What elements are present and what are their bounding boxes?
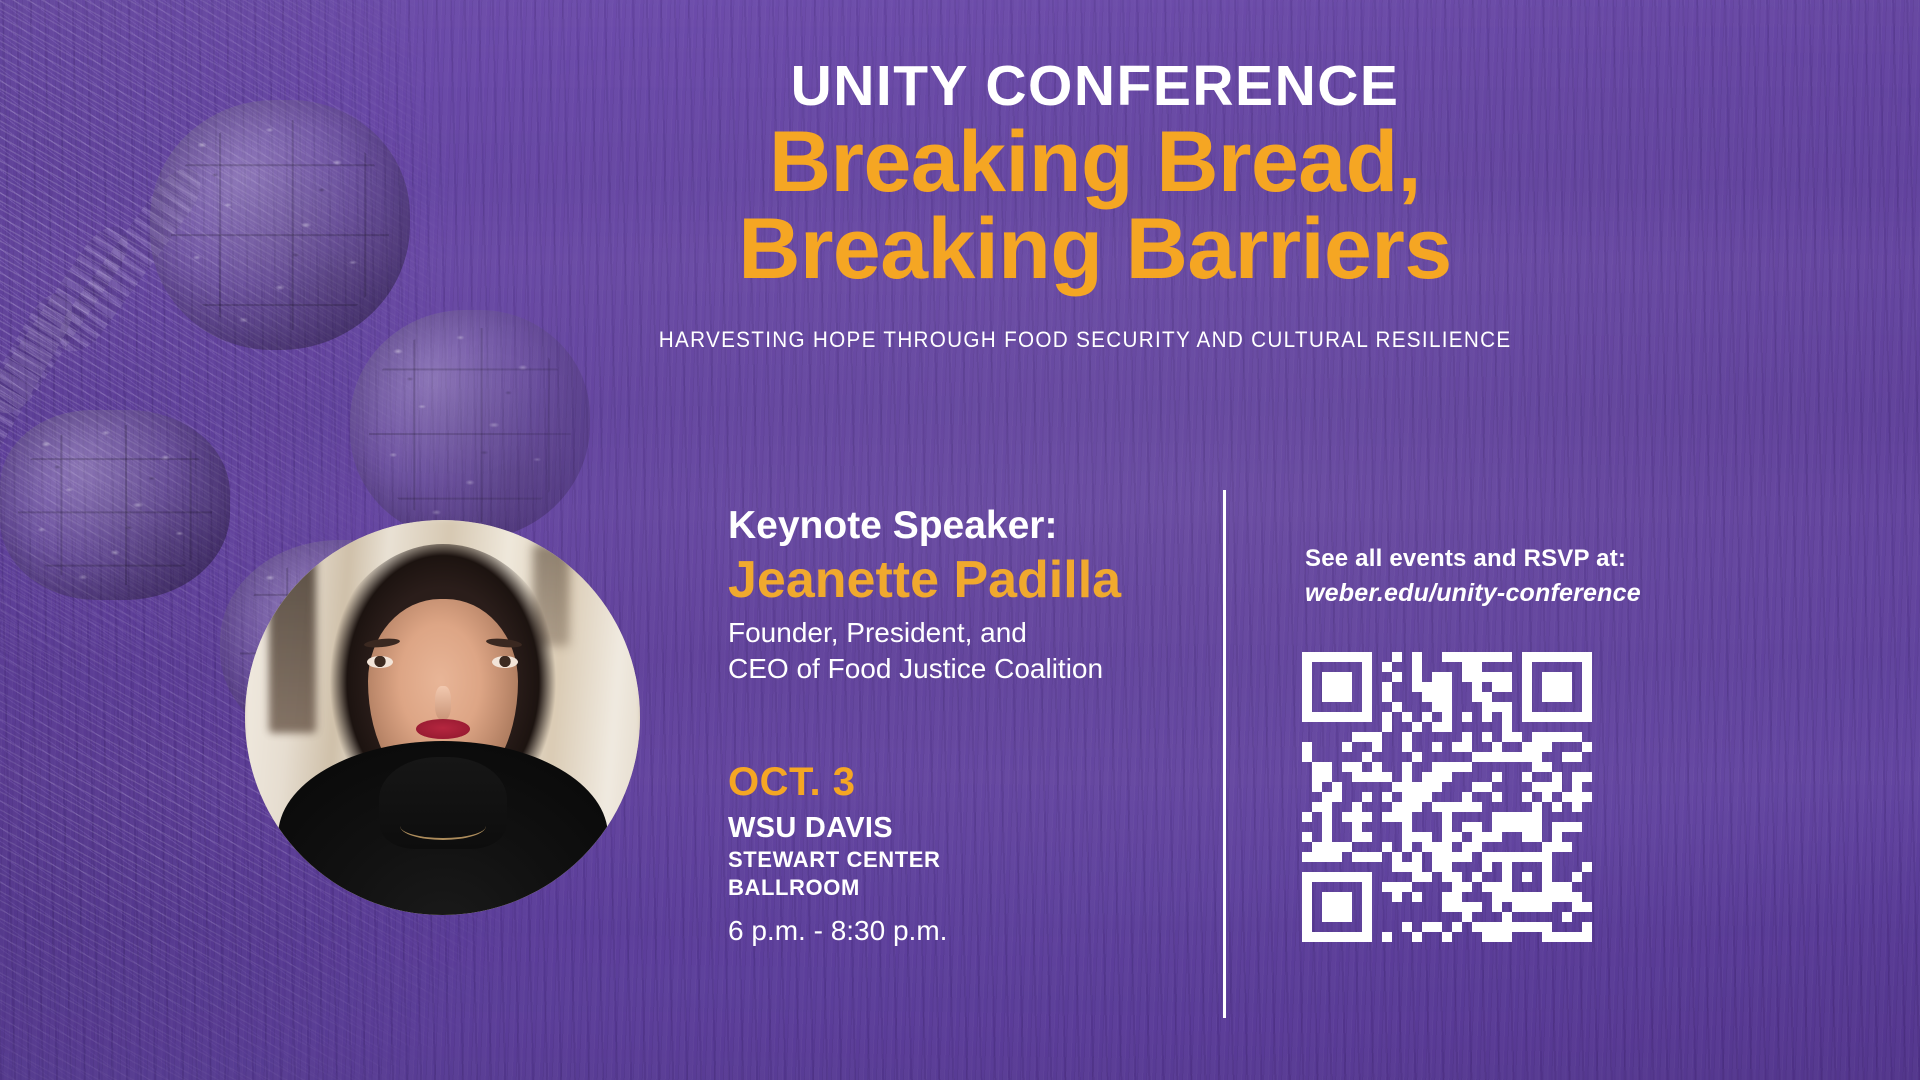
conference-poster: UNITY CONFERENCE Breaking Bread, Breakin… [0, 0, 1920, 1080]
event-venue-building: STEWART CENTER [728, 847, 1198, 873]
keynote-role-line-1: Founder, President, and [728, 615, 1198, 651]
vertical-divider [1223, 490, 1226, 1018]
portrait-nose [435, 686, 451, 720]
portrait-eye [492, 656, 518, 668]
rsvp-block: See all events and RSVP at: weber.edu/un… [1305, 545, 1645, 608]
rsvp-url[interactable]: weber.edu/unity-conference [1305, 579, 1645, 608]
headline-block: UNITY CONFERENCE Breaking Bread, Breakin… [0, 58, 1920, 353]
keynote-speaker-portrait [245, 520, 640, 915]
keynote-label: Keynote Speaker: [728, 505, 1198, 547]
keynote-speaker-name: Jeanette Padilla [728, 551, 1198, 609]
qr-code[interactable] [1302, 652, 1592, 942]
event-date: OCT. 3 [728, 760, 1198, 805]
keynote-role-line-2: CEO of Food Justice Coalition [728, 651, 1198, 687]
conference-kicker: UNITY CONFERENCE [0, 58, 1920, 115]
event-venue-room: BALLROOM [728, 875, 1198, 901]
portrait-lips [416, 719, 470, 739]
portrait-background-detail [269, 552, 316, 734]
portrait-necklace [400, 812, 486, 840]
keynote-block: Keynote Speaker: Jeanette Padilla Founde… [728, 505, 1198, 686]
event-details-block: OCT. 3 WSU DAVIS STEWART CENTER BALLROOM… [728, 760, 1198, 947]
conference-title-line-2: Breaking Barriers [0, 206, 1920, 293]
conference-title-line-1: Breaking Bread, [0, 119, 1920, 206]
rsvp-prompt: See all events and RSVP at: [1305, 545, 1645, 573]
event-venue: WSU DAVIS [728, 813, 1198, 844]
conference-tagline: HARVESTING HOPE THROUGH FOOD SECURITY AN… [77, 327, 1843, 353]
event-time: 6 p.m. - 8:30 p.m. [728, 915, 1198, 947]
